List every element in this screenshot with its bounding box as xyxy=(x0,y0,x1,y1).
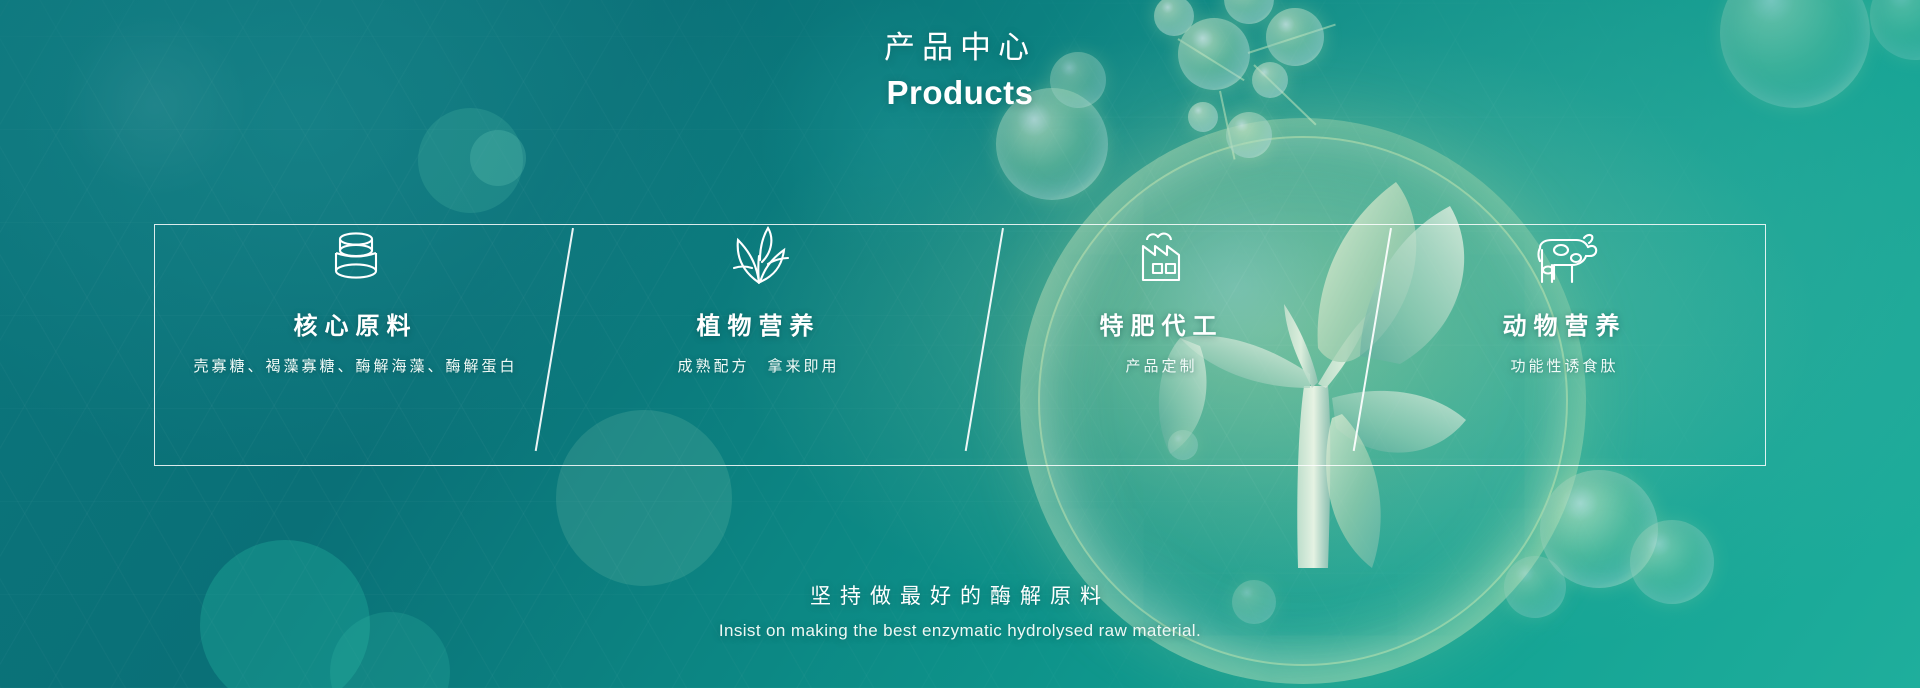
page-title-cn: 产品中心 xyxy=(0,22,1920,67)
cow-icon xyxy=(1528,216,1602,288)
slogan-en: Insist on making the best enzymatic hydr… xyxy=(0,621,1920,641)
bokeh-circle-3 xyxy=(470,130,526,186)
feature-subtitle: 壳寡糖、褐藻寡糖、酶解海藻、酶解蛋白 xyxy=(193,355,517,376)
page-title-en: Products xyxy=(0,74,1920,112)
cream-jar-icon xyxy=(323,216,389,288)
banner-header: 产品中心 Products xyxy=(0,22,1920,112)
bokeh-circle-2 xyxy=(418,108,523,213)
molecule-atom xyxy=(1226,112,1272,158)
product-center-banner: 产品中心 Products 核心原料 壳寡糖、褐藻寡糖、酶解海藻、酶解蛋白 xyxy=(0,0,1920,688)
slogan-cn: 坚持做最好的酶解原料 xyxy=(0,580,1920,610)
feature-animal-nutrition[interactable]: 动物营养 功能性诱食肽 xyxy=(1363,224,1766,466)
feature-subtitle: 成熟配方 拿来即用 xyxy=(677,355,839,376)
feature-subtitle: 产品定制 xyxy=(1125,355,1197,376)
sprout-leaves-icon xyxy=(724,216,794,288)
feature-fertilizer-oem[interactable]: 特肥代工 产品定制 xyxy=(960,224,1363,466)
feature-title: 动物营养 xyxy=(1503,306,1627,341)
feature-plant-nutrition[interactable]: 植物营养 成熟配方 拿来即用 xyxy=(557,224,960,466)
molecule-atom xyxy=(1224,0,1274,24)
floating-bubble xyxy=(1540,470,1658,588)
feature-title: 核心原料 xyxy=(294,306,418,341)
feature-title: 植物营养 xyxy=(697,306,821,341)
feature-subtitle: 功能性诱食肽 xyxy=(1510,355,1618,376)
feature-core-materials[interactable]: 核心原料 壳寡糖、褐藻寡糖、酶解海藻、酶解蛋白 xyxy=(154,224,557,466)
features-row: 核心原料 壳寡糖、褐藻寡糖、酶解海藻、酶解蛋白 植物营养 成熟配方 拿来即用 xyxy=(154,224,1766,466)
feature-title: 特肥代工 xyxy=(1100,306,1224,341)
factory-icon xyxy=(1129,216,1195,288)
banner-slogan: 坚持做最好的酶解原料 Insist on making the best enz… xyxy=(0,580,1920,641)
